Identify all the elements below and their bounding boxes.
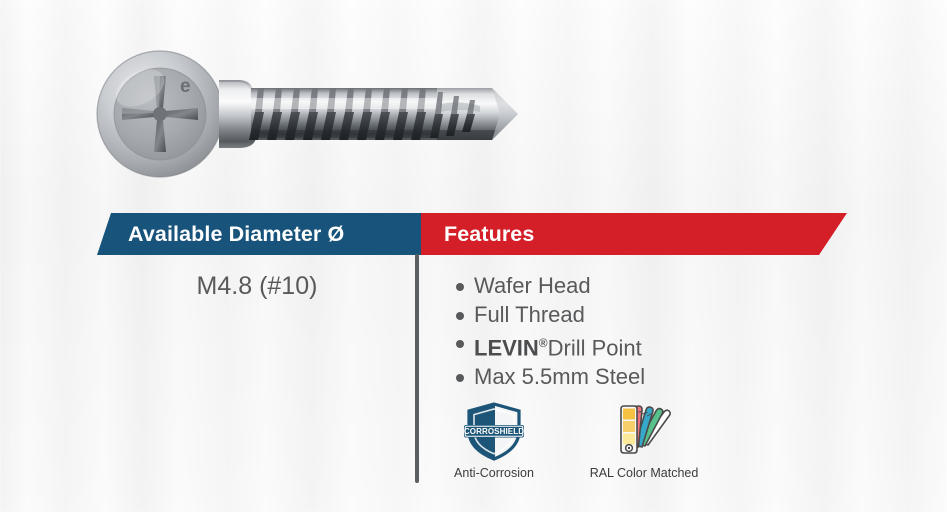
feature-brand: LEVIN: [474, 335, 539, 360]
bullet-icon: [456, 312, 464, 320]
bullet-icon: [456, 374, 464, 382]
screw-shank: [249, 88, 437, 140]
feature-item: LEVIN®Drill Point: [432, 329, 862, 363]
diameter-column-header: Available Diameter Ø: [97, 213, 421, 255]
badge-caption-ral-color-matched: RAL Color Matched: [590, 466, 699, 480]
feature-item: Full Thread: [432, 301, 862, 330]
feature-label: Wafer Head: [474, 273, 591, 298]
feature-label: Drill Point: [548, 335, 642, 360]
badge-row: CORROSHIELD Anti-Corrosion: [440, 400, 698, 480]
bullet-icon: [456, 283, 464, 291]
levin-drill-point: [430, 88, 518, 140]
ral-color-fan-icon: [613, 400, 675, 462]
feature-label: Full Thread: [474, 302, 585, 327]
feature-item: Wafer Head: [432, 272, 862, 301]
registered-mark: ®: [539, 336, 548, 350]
feature-item: Max 5.5mm Steel: [432, 363, 862, 392]
ral-swatches: [623, 409, 635, 445]
corroshield-ribbon-text: CORROSHIELD: [464, 427, 524, 436]
spec-banner-row: Available Diameter Ø Features: [0, 213, 947, 255]
features-list: Wafer Head Full Thread LEVIN®Drill Point…: [432, 272, 862, 391]
diameter-value: M4.8 (#10): [97, 272, 417, 301]
bullet-icon: [456, 340, 464, 348]
feature-label: Max 5.5mm Steel: [474, 364, 645, 389]
badge-anti-corrosion: CORROSHIELD Anti-Corrosion: [440, 400, 548, 480]
features-column-header: Features: [421, 213, 847, 255]
product-image-screw: e: [88, 42, 598, 187]
badge-ral-color-matched: RAL Color Matched: [590, 400, 698, 480]
screw-head: e: [97, 51, 223, 177]
corroshield-shield-icon: CORROSHIELD: [463, 400, 525, 462]
head-mark-e: e: [180, 76, 191, 97]
badge-caption-anti-corrosion: Anti-Corrosion: [454, 466, 534, 480]
